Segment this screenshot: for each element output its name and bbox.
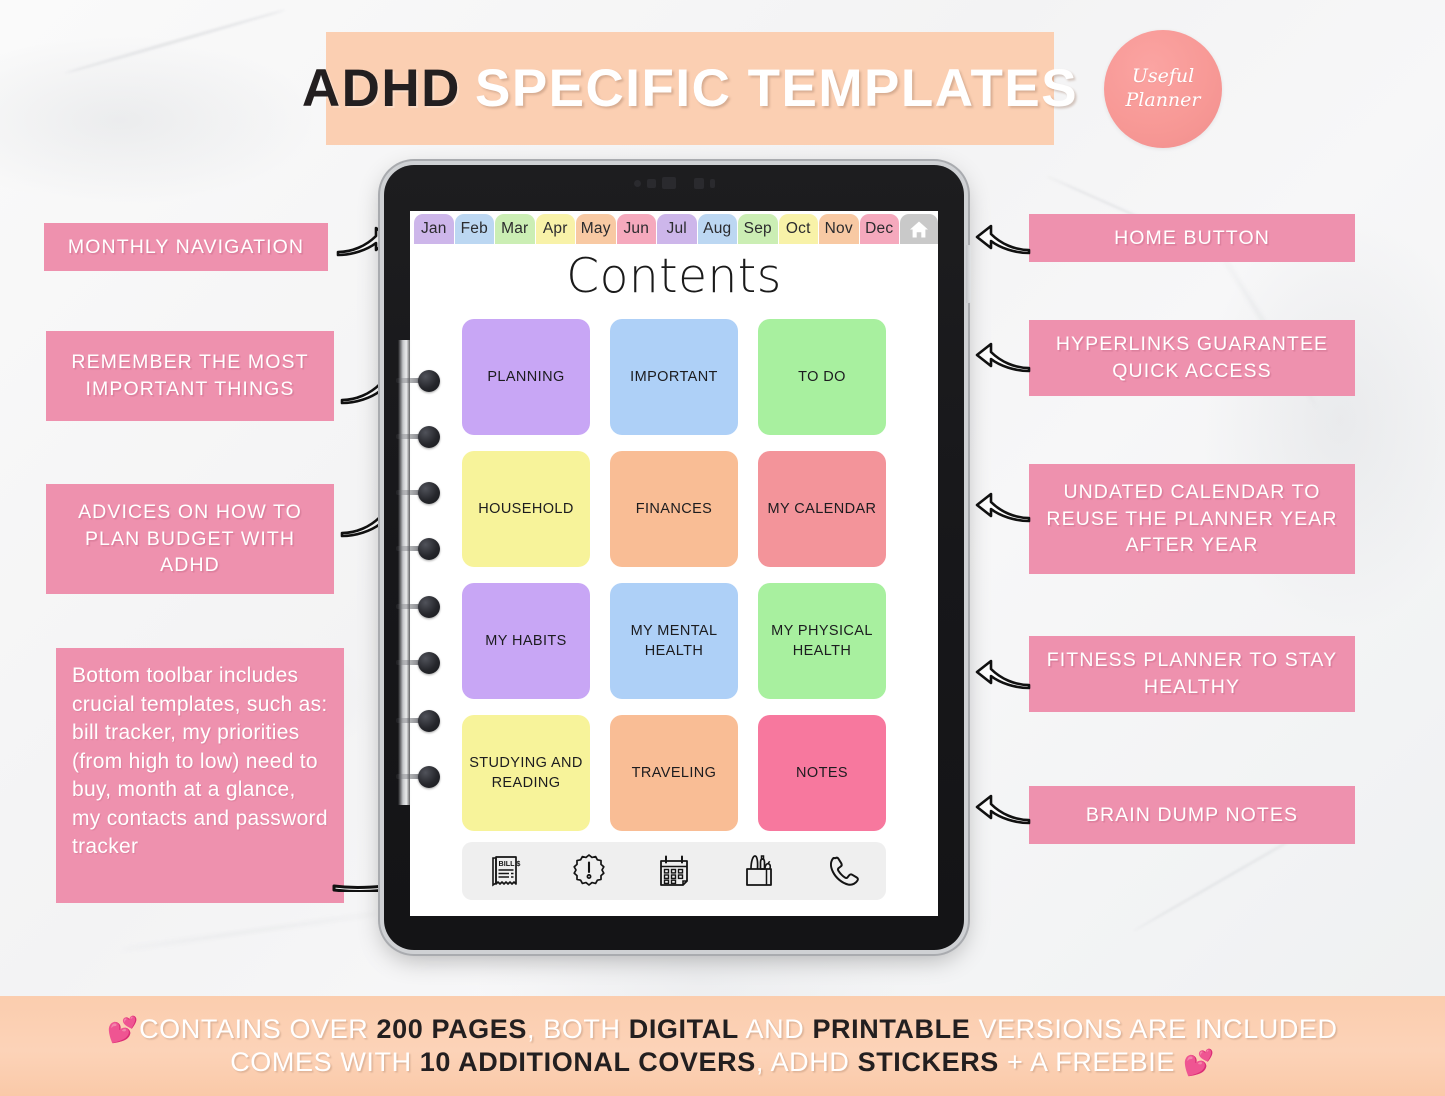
binder-ring-bar — [396, 490, 420, 495]
footer-segment: CONTAINS OVER — [139, 1014, 376, 1044]
tile-label: NOTES — [796, 763, 848, 783]
tile-finances[interactable]: FINANCES — [610, 451, 738, 567]
callout-home-button: HOME BUTTON — [1029, 214, 1355, 262]
tile-label: FINANCES — [636, 499, 713, 519]
binder-ring-bar — [396, 774, 420, 779]
month-tab-label: Feb — [461, 220, 488, 238]
tile-label: MY HABITS — [485, 631, 567, 651]
tile-important[interactable]: IMPORTANT — [610, 319, 738, 435]
arrow-left-icon — [975, 655, 1031, 695]
home-icon — [909, 220, 929, 239]
month-tab-jun[interactable]: Jun — [617, 214, 657, 244]
callout-text: HYPERLINKS GUARANTEE QUICK ACCESS — [1039, 331, 1345, 385]
callout-brain-dump: BRAIN DUMP NOTES — [1029, 786, 1355, 844]
month-tab-mar[interactable]: Mar — [495, 214, 535, 244]
callout-undated-calendar: UNDATED CALENDAR TO REUSE THE PLANNER YE… — [1029, 464, 1355, 574]
footer-line-2: COMES WITH 10 ADDITIONAL COVERS, ADHD ST… — [230, 1047, 1215, 1078]
binder-ring — [418, 538, 440, 560]
logo-line-1: Useful — [1132, 65, 1194, 89]
arrow-left-icon — [975, 790, 1031, 830]
footer-segment: 200 PAGES — [377, 1014, 527, 1044]
home-button[interactable] — [900, 214, 938, 244]
month-tab-label: Oct — [786, 220, 811, 238]
month-tab-jan[interactable]: Jan — [414, 214, 454, 244]
binder-ring-bar — [396, 434, 420, 439]
callout-text: FITNESS PLANNER TO STAY HEALTHY — [1039, 647, 1345, 701]
binder-ring-bar — [396, 546, 420, 551]
month-tab-label: May — [581, 220, 611, 238]
binder-ring-bar — [396, 604, 420, 609]
binder-ring — [418, 370, 440, 392]
month-tab-label: Aug — [703, 220, 731, 238]
footer-segment: VERSIONS ARE INCLUDED — [970, 1014, 1337, 1044]
arrow-left-icon — [975, 338, 1031, 378]
binder-ring-bar — [396, 378, 420, 383]
month-tab-may[interactable]: May — [576, 214, 616, 244]
month-tab-aug[interactable]: Aug — [698, 214, 738, 244]
footer-segment: 💕 — [107, 1016, 139, 1044]
monthly-navigation-tabs: Jan Feb Mar Apr May Jun Jul Aug Sep Oct … — [410, 211, 938, 244]
logo-line-2: Planner — [1126, 89, 1201, 113]
page-title: Contents — [410, 249, 938, 304]
binder-ring — [418, 652, 440, 674]
callout-monthly-navigation: MONTHLY NAVIGATION — [44, 223, 328, 271]
binder-ring — [418, 766, 440, 788]
binder-ring-bar — [396, 718, 420, 723]
tile-label: IMPORTANT — [630, 367, 718, 387]
month-tab-jul[interactable]: Jul — [657, 214, 697, 244]
tile-household[interactable]: HOUSEHOLD — [462, 451, 590, 567]
tile-my-physical-health[interactable]: MY PHYSICAL HEALTH — [758, 583, 886, 699]
page-title-banner: ADHD SPECIFIC TEMPLATES — [326, 32, 1054, 145]
priorities-exclamation-icon[interactable] — [566, 850, 612, 892]
callout-text: BRAIN DUMP NOTES — [1086, 802, 1298, 829]
footer-segment: + A FREEBIE — [999, 1047, 1183, 1077]
binder-ring — [418, 596, 440, 618]
month-tab-label: Sep — [744, 220, 772, 238]
bill-tracker-icon[interactable]: BILL $ — [481, 850, 527, 892]
footer-segment: AND — [739, 1014, 813, 1044]
footer-segment: COMES WITH — [230, 1047, 420, 1077]
marble-vein — [64, 8, 286, 74]
footer-segment: DIGITAL — [629, 1014, 739, 1044]
binder-ring — [418, 482, 440, 504]
tile-my-calendar[interactable]: MY CALENDAR — [758, 451, 886, 567]
footer-segment: PRINTABLE — [812, 1014, 970, 1044]
brand-logo-badge: Useful Planner — [1104, 30, 1222, 148]
tile-label: MY MENTAL HEALTH — [614, 621, 734, 661]
arrow-left-icon — [975, 488, 1031, 528]
month-tab-label: Jan — [421, 220, 447, 238]
planner-screen: Jan Feb Mar Apr May Jun Jul Aug Sep Oct … — [410, 211, 938, 916]
binder-ring-bar — [396, 660, 420, 665]
grocery-bag-icon[interactable] — [736, 850, 782, 892]
arrow-left-icon — [975, 220, 1031, 260]
callout-hyperlinks: HYPERLINKS GUARANTEE QUICK ACCESS — [1029, 320, 1355, 396]
bill-label: BILL $ — [499, 859, 521, 868]
marble-vein — [121, 912, 379, 951]
tile-traveling[interactable]: TRAVELING — [610, 715, 738, 831]
callout-text: Bottom toolbar includes crucial template… — [72, 662, 328, 862]
footer-segment: 💕 — [1183, 1049, 1215, 1077]
month-tab-feb[interactable]: Feb — [455, 214, 495, 244]
binder-rail — [398, 340, 412, 805]
callout-text: ADVICES ON HOW TO PLAN BUDGET WITH ADHD — [56, 499, 324, 580]
tile-my-habits[interactable]: MY HABITS — [462, 583, 590, 699]
tile-label: MY CALENDAR — [768, 499, 877, 519]
tile-my-mental-health[interactable]: MY MENTAL HEALTH — [610, 583, 738, 699]
callout-remember-important: REMEMBER THE MOST IMPORTANT THINGS — [46, 331, 334, 421]
month-tab-label: Apr — [543, 220, 568, 238]
footer-segment: 10 ADDITIONAL COVERS — [420, 1047, 756, 1077]
marble-vein — [1133, 830, 1307, 932]
calendar-icon[interactable] — [651, 850, 697, 892]
title-light-part: SPECIFIC TEMPLATES — [461, 58, 1078, 119]
month-tab-apr[interactable]: Apr — [536, 214, 576, 244]
footer-segment: , ADHD — [756, 1047, 858, 1077]
footer-banner: 💕CONTAINS OVER 200 PAGES, BOTH DIGITAL A… — [0, 996, 1445, 1096]
phone-icon[interactable] — [821, 850, 867, 892]
tile-to-do[interactable]: TO DO — [758, 319, 886, 435]
month-tab-label: Nov — [825, 220, 853, 238]
tile-notes[interactable]: NOTES — [758, 715, 886, 831]
callout-text: MONTHLY NAVIGATION — [68, 234, 304, 261]
footer-segment: STICKERS — [858, 1047, 999, 1077]
bottom-toolbar: BILL $ — [462, 842, 886, 900]
callout-budget-advice: ADVICES ON HOW TO PLAN BUDGET WITH ADHD — [46, 484, 334, 594]
footer-line-1: 💕CONTAINS OVER 200 PAGES, BOTH DIGITAL A… — [107, 1014, 1337, 1045]
binder-ring — [418, 710, 440, 732]
month-tab-oct[interactable]: Oct — [779, 214, 819, 244]
month-tab-sep[interactable]: Sep — [738, 214, 778, 244]
tile-label: TRAVELING — [632, 763, 717, 783]
month-tab-label: Dec — [865, 220, 893, 238]
callout-bottom-toolbar-description: Bottom toolbar includes crucial template… — [56, 648, 344, 903]
contents-tile-grid: PLANNING IMPORTANT TO DO HOUSEHOLD FINAN… — [462, 319, 886, 831]
binder-ring — [418, 426, 440, 448]
tile-label: PLANNING — [487, 367, 564, 387]
month-tab-nov[interactable]: Nov — [819, 214, 859, 244]
power-button[interactable] — [966, 245, 971, 303]
tile-planning[interactable]: PLANNING — [462, 319, 590, 435]
callout-fitness-planner: FITNESS PLANNER TO STAY HEALTHY — [1029, 636, 1355, 712]
month-tab-label: Mar — [501, 220, 528, 238]
tile-label: MY PHYSICAL HEALTH — [762, 621, 882, 661]
footer-segment: , BOTH — [527, 1014, 629, 1044]
callout-text: UNDATED CALENDAR TO REUSE THE PLANNER YE… — [1039, 479, 1345, 560]
title-dark-part: ADHD — [302, 58, 461, 119]
callout-text: REMEMBER THE MOST IMPORTANT THINGS — [56, 349, 324, 403]
tablet-camera-module — [614, 175, 734, 191]
month-tab-dec[interactable]: Dec — [860, 214, 900, 244]
tile-studying-and-reading[interactable]: STUDYING AND READING — [462, 715, 590, 831]
month-tab-label: Jul — [667, 220, 687, 238]
tile-label: HOUSEHOLD — [478, 499, 573, 519]
month-tab-label: Jun — [623, 220, 649, 238]
tablet-device: Jan Feb Mar Apr May Jun Jul Aug Sep Oct … — [384, 165, 964, 950]
tile-label: TO DO — [798, 367, 846, 387]
callout-text: HOME BUTTON — [1114, 225, 1270, 252]
tile-label: STUDYING AND READING — [466, 753, 586, 793]
